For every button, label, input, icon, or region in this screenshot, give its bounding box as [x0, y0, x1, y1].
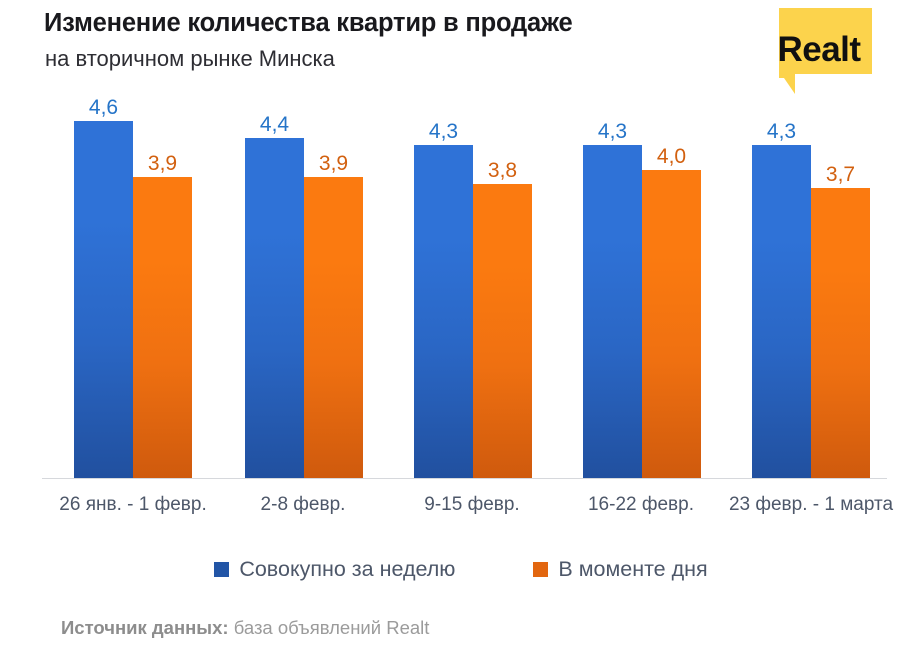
- legend-label-series1: Совокупно за неделю: [239, 557, 455, 582]
- bar-value-label-series2: 3,7: [811, 164, 870, 185]
- bar-series2[interactable]: [133, 177, 192, 478]
- x-axis-label: 26 янв. - 1 февр.: [49, 492, 217, 518]
- bar-group: 4,3 3,8: [414, 0, 532, 500]
- bar-series1[interactable]: [414, 145, 473, 478]
- bar-series1[interactable]: [74, 121, 133, 478]
- bar-value-label-series2: 3,9: [133, 153, 192, 174]
- source-note: Источник данных: база объявлений Realt: [61, 617, 429, 639]
- chart-legend: Совокупно за неделю В моменте дня: [0, 557, 922, 582]
- legend-item-series1[interactable]: Совокупно за неделю: [214, 557, 455, 582]
- legend-swatch-icon: [533, 562, 548, 577]
- bar-value-label-series2: 3,8: [473, 160, 532, 181]
- bar-series2[interactable]: [811, 188, 870, 478]
- bar-value-label-series1: 4,4: [245, 114, 304, 135]
- legend-item-series2[interactable]: В моменте дня: [533, 557, 707, 582]
- bar-value-label-series1: 4,3: [583, 121, 642, 142]
- chart-plot-area: 4,6 3,9 4,4 3,9 4,3 3,8 4,3 4,0 4,3 3,7 …: [0, 0, 922, 500]
- x-axis-label: 9-15 февр.: [388, 492, 556, 518]
- bar-series2[interactable]: [304, 177, 363, 478]
- bar-group: 4,3 3,7: [752, 0, 870, 500]
- x-axis-label: 16-22 февр.: [557, 492, 725, 518]
- bar-series1[interactable]: [583, 145, 642, 478]
- x-axis-label: 2-8 февр.: [219, 492, 387, 518]
- bar-value-label-series2: 4,0: [642, 146, 701, 167]
- bar-group: 4,6 3,9: [74, 0, 192, 500]
- legend-label-series2: В моменте дня: [558, 557, 707, 582]
- bar-series1[interactable]: [245, 138, 304, 478]
- bar-series1[interactable]: [752, 145, 811, 478]
- source-note-label: Источник данных:: [61, 617, 229, 638]
- bar-value-label-series1: 4,6: [74, 97, 133, 118]
- bar-series2[interactable]: [642, 170, 701, 478]
- source-note-value: база объявлений Realt: [229, 617, 430, 638]
- bar-group: 4,4 3,9: [245, 0, 363, 500]
- bar-series2[interactable]: [473, 184, 532, 478]
- x-axis-label: 23 февр. - 1 марта: [727, 492, 895, 518]
- legend-swatch-icon: [214, 562, 229, 577]
- bar-group: 4,3 4,0: [583, 0, 701, 500]
- bar-value-label-series2: 3,9: [304, 153, 363, 174]
- bar-value-label-series1: 4,3: [752, 121, 811, 142]
- bar-value-label-series1: 4,3: [414, 121, 473, 142]
